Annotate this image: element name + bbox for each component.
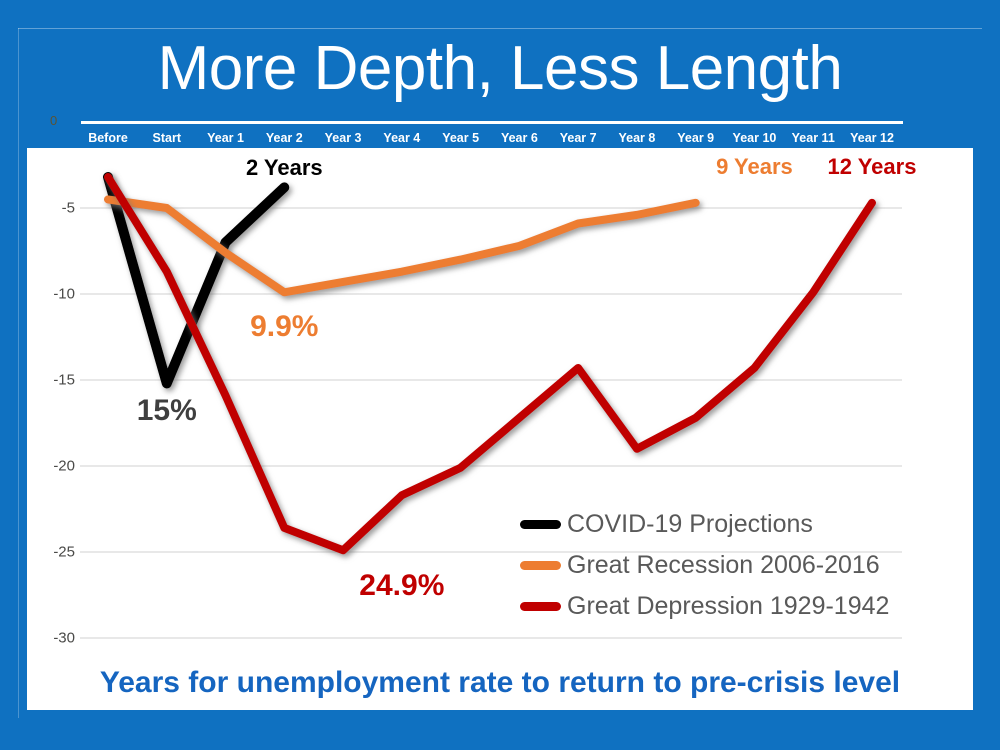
- y-axis-zero-label: 0: [50, 113, 57, 128]
- series-line-great-recession-2006-2016: [108, 199, 696, 292]
- legend-label: Great Depression 1929-1942: [567, 592, 889, 621]
- x-axis-tick-year-9: Year 9: [677, 131, 714, 145]
- x-axis-tick-year-2: Year 2: [266, 131, 303, 145]
- slide-top-rule: [18, 28, 982, 29]
- x-axis-tick-year-1: Year 1: [207, 131, 244, 145]
- chart-panel: -5-10-15-20-25-30 2 Years9 Years12 Years…: [27, 148, 973, 655]
- annotation-24-9-: 24.9%: [359, 569, 444, 603]
- x-axis-tick-start: Start: [153, 131, 181, 145]
- series-lines: [108, 177, 872, 550]
- legend-swatch-icon: [520, 520, 561, 529]
- x-axis-tick-year-11: Year 11: [792, 131, 835, 145]
- caption-band: Years for unemployment rate to return to…: [27, 655, 973, 710]
- annotation-15-: 15%: [137, 394, 197, 428]
- x-axis-tick-year-12: Year 12: [850, 131, 894, 145]
- series-line-great-depression-1929-1942: [108, 177, 872, 550]
- x-axis-labels: BeforeStartYear 1Year 2Year 3Year 4Year …: [81, 131, 903, 149]
- annotation-2-years: 2 Years: [246, 155, 323, 181]
- legend-swatch-icon: [520, 602, 561, 611]
- annotation-9-years: 9 Years: [716, 154, 793, 180]
- x-axis-tick-year-4: Year 4: [383, 131, 420, 145]
- x-axis-tick-before: Before: [88, 131, 128, 145]
- legend-label: COVID-19 Projections: [567, 510, 813, 539]
- annotation-9-9-: 9.9%: [250, 310, 318, 344]
- x-axis-tick-year-10: Year 10: [733, 131, 777, 145]
- legend-swatch-icon: [520, 561, 561, 570]
- slide-left-rule: [18, 28, 19, 718]
- x-axis-tick-year-5: Year 5: [442, 131, 479, 145]
- x-axis-tick-year-7: Year 7: [560, 131, 597, 145]
- x-axis-tick-year-8: Year 8: [619, 131, 656, 145]
- x-axis-tick-year-3: Year 3: [325, 131, 362, 145]
- legend-label: Great Recession 2006-2016: [567, 551, 880, 580]
- legend-item[interactable]: Great Depression 1929-1942: [520, 586, 960, 627]
- legend-item[interactable]: Great Recession 2006-2016: [520, 545, 960, 586]
- caption-text: Years for unemployment rate to return to…: [100, 666, 900, 700]
- zero-axis-line: [81, 121, 903, 124]
- chart-legend: COVID-19 ProjectionsGreat Recession 2006…: [520, 504, 960, 627]
- x-axis-tick-year-6: Year 6: [501, 131, 538, 145]
- legend-item[interactable]: COVID-19 Projections: [520, 504, 960, 545]
- slide-canvas: More Depth, Less Length 0 BeforeStartYea…: [0, 0, 1000, 750]
- page-title: More Depth, Less Length: [0, 30, 1000, 108]
- annotation-12-years: 12 Years: [828, 154, 917, 180]
